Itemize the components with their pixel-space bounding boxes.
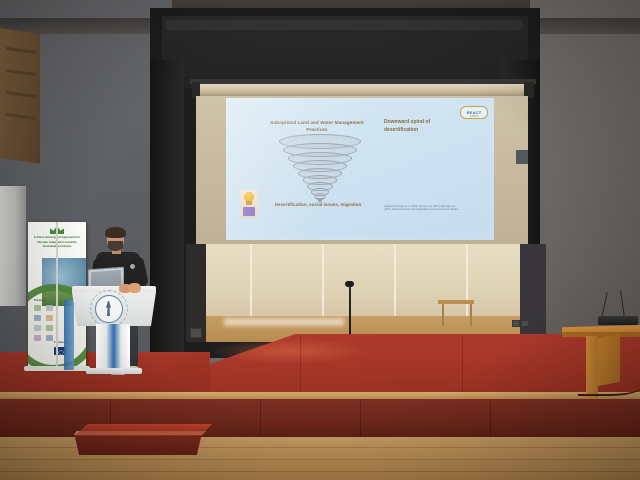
- wall-panel: [516, 150, 528, 164]
- presenter-hand-right: [128, 283, 141, 293]
- step-block-face: [74, 433, 202, 455]
- photo-scene: Suboptimal Land and Water Management Pra…: [0, 0, 640, 480]
- wall-switch[interactable]: [512, 320, 520, 327]
- banner-pole: [56, 222, 58, 368]
- wooden-beam: [0, 28, 40, 164]
- proscenium-left-leg: [150, 60, 184, 360]
- stage-back-wall: [204, 244, 522, 342]
- background-table-leg: [470, 304, 472, 326]
- wall-socket[interactable]: [190, 328, 202, 338]
- stage-edge-trim: [0, 392, 640, 399]
- microphone-base-unit: [598, 316, 638, 325]
- floor-cable: [578, 380, 640, 396]
- projected-slide: Suboptimal Land and Water Management Pra…: [226, 98, 494, 240]
- podium-base: [86, 368, 142, 374]
- shirt-logo-icon: [130, 264, 135, 269]
- podium-side-panel: [64, 300, 74, 370]
- slide-glare: [226, 98, 494, 240]
- stage-light-pool: [210, 338, 370, 364]
- screen-roller-housing: [196, 84, 528, 96]
- window-light: [0, 186, 26, 306]
- stage-right-wing: [520, 244, 546, 342]
- step-block: [74, 424, 212, 436]
- banner-partners-label: Partners: [34, 298, 46, 302]
- presenter-beard: [108, 241, 123, 251]
- banner-foot: [24, 366, 90, 371]
- proscenium-lip: [166, 20, 522, 30]
- side-table-leg-back: [598, 334, 620, 386]
- presenter-hair: [105, 227, 126, 238]
- wall-switch[interactable]: [521, 320, 529, 327]
- podium-column: [96, 324, 130, 370]
- podium-emblem-icon: [95, 295, 123, 323]
- background-table-leg: [442, 304, 444, 326]
